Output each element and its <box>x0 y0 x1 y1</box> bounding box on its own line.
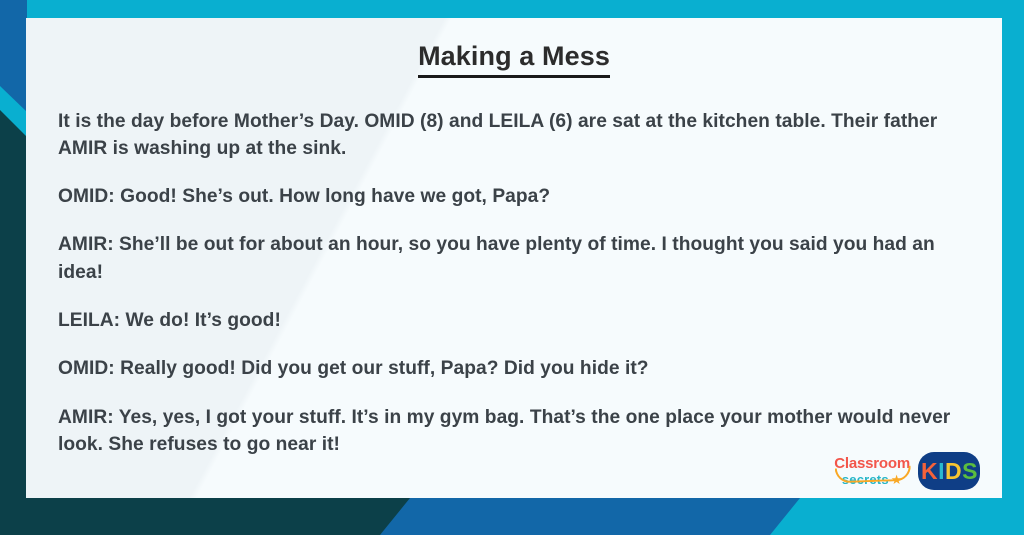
decorative-blue-bottom-wedge <box>380 498 800 535</box>
content-card: Making a Mess It is the day before Mothe… <box>26 18 1002 498</box>
kids-letter-k: K <box>921 458 937 485</box>
script-line-leila-1: LEILA: We do! It’s good! <box>58 307 970 334</box>
kids-letter-d: D <box>945 458 961 485</box>
kids-letter-s: S <box>962 458 977 485</box>
slide-canvas: Making a Mess It is the day before Mothe… <box>0 0 1024 535</box>
kids-badge: K I D S <box>918 452 980 490</box>
classroom-secrets-logo: Classroom secrets ★ <box>834 456 910 486</box>
script-line-amir-1: AMIR: She’ll be out for about an hour, s… <box>58 231 970 286</box>
script-line-omid-2: OMID: Really good! Did you get our stuff… <box>58 355 970 382</box>
brand-logo: Classroom secrets ★ K I D S <box>834 452 980 490</box>
script-line-amir-2: AMIR: Yes, yes, I got your stuff. It’s i… <box>58 404 970 459</box>
script-line-omid-1: OMID: Good! She’s out. How long have we … <box>58 183 970 210</box>
kids-letter-i: I <box>938 458 944 485</box>
decorative-blue-left-wedge <box>0 0 27 112</box>
script-line-stage-direction: It is the day before Mother’s Day. OMID … <box>58 108 970 163</box>
page-title-text: Making a Mess <box>418 42 610 78</box>
page-title: Making a Mess <box>54 42 974 78</box>
script-body: It is the day before Mother’s Day. OMID … <box>54 108 974 458</box>
card-content: Making a Mess It is the day before Mothe… <box>54 42 974 458</box>
